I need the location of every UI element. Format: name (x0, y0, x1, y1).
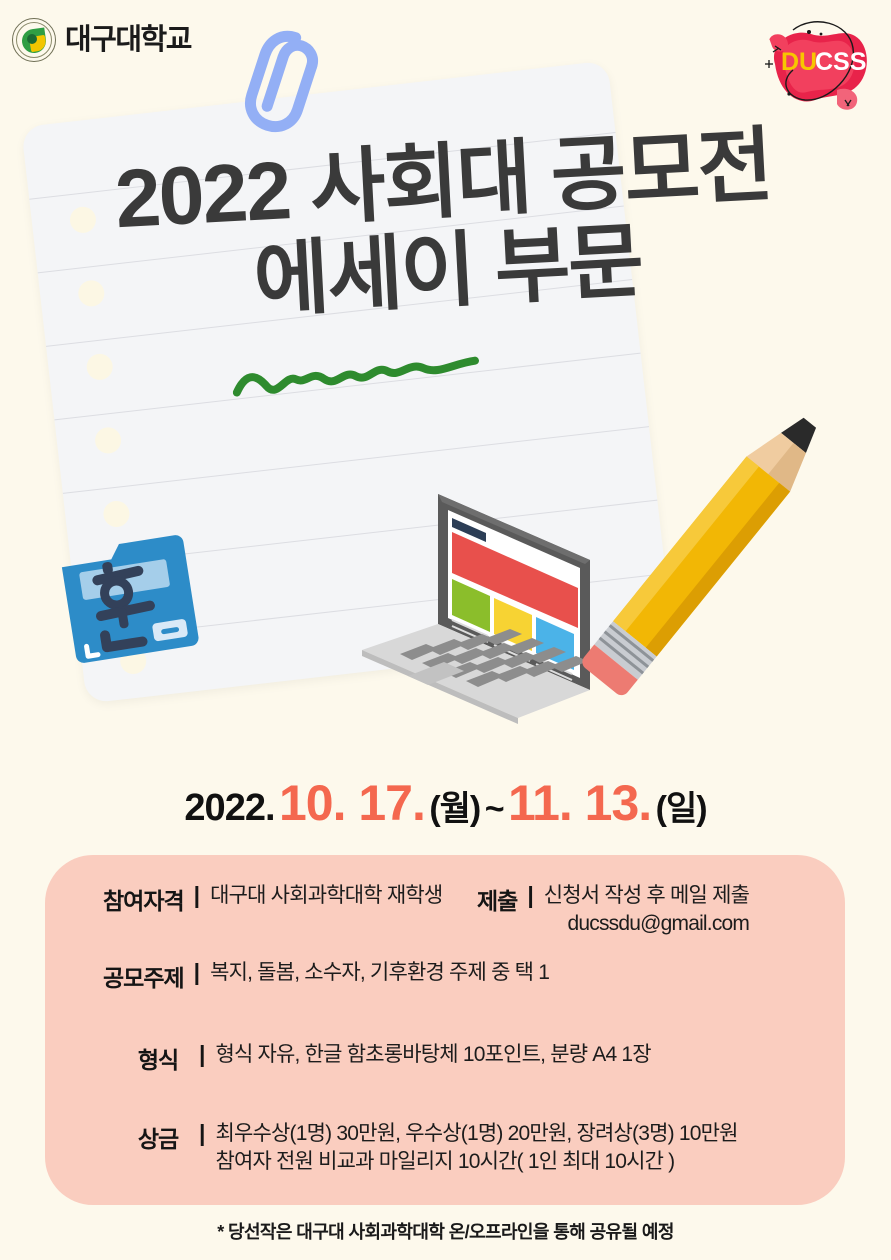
prize-divider: | (199, 1120, 205, 1147)
university-name: 대구대학교 (65, 26, 191, 55)
eligibility-divider: | (194, 882, 200, 909)
ducss-logo-du: DU (781, 48, 817, 76)
date-end-day: (일) (656, 790, 707, 828)
format-divider: | (199, 1041, 205, 1068)
date-separator: ~ (485, 790, 504, 828)
prize-value-line1: 최우수상(1명) 30만원, 우수상(1명) 20만원, 장려상(3명) 10만… (215, 1120, 737, 1148)
topic-value: 복지, 돌봄, 소수자, 기후환경 주제 중 택 1 (210, 959, 549, 987)
eligibility-label: 참여자격 (103, 882, 184, 916)
format-value: 형식 자유, 한글 함초롱바탕체 10포인트, 분량 A4 1장 (215, 1041, 650, 1069)
submission-email: ducssdu@gmail.com (544, 910, 749, 938)
info-row-format: 형식 | 형식 자유, 한글 함초롱바탕체 10포인트, 분량 A4 1장 (127, 1041, 651, 1075)
info-row-eligibility: 참여자격 | 대구대 사회과학대학 재학생 (103, 882, 442, 916)
submission-label: 제출 (477, 882, 517, 916)
format-label: 형식 (127, 1041, 189, 1075)
submission-value-line1: 신청서 작성 후 메일 제출 (544, 882, 749, 910)
eligibility-value: 대구대 사회과학대학 재학생 (210, 882, 442, 910)
prize-value-line2: 참여자 전원 비교과 마일리지 10시간( 1인 최대 10시간 ) (215, 1148, 737, 1176)
topic-divider: | (194, 959, 200, 986)
info-row-submission: 제출 | 신청서 작성 후 메일 제출 ducssdu@gmail.com (477, 882, 749, 937)
info-row-topic: 공모주제 | 복지, 돌봄, 소수자, 기후환경 주제 중 택 1 (103, 959, 549, 993)
poster-canvas: 2022 사회대 공모전 에세이 부문 (0, 0, 891, 1260)
info-panel: 참여자격 | 대구대 사회과학대학 재학생 제출 | 신청서 작성 후 메일 제… (45, 855, 845, 1205)
topic-label: 공모주제 (103, 959, 184, 993)
submission-divider: | (527, 882, 533, 909)
paperclip-icon (236, 22, 356, 147)
date-year: 2022. (184, 787, 274, 829)
ducss-logo-css: CSS (815, 48, 866, 76)
date-start-day: (월) (429, 790, 480, 828)
prize-label: 상금 (127, 1120, 189, 1154)
info-row-prize: 상금 | 최우수상(1명) 30만원, 우수상(1명) 20만원, 장려상(3명… (127, 1120, 738, 1175)
date-start: 10. 17. (279, 775, 425, 831)
date-end: 11. 13. (508, 775, 651, 831)
pencil-icon (548, 378, 864, 724)
memo-card-icon (53, 525, 208, 677)
daegu-university-emblem-icon (12, 18, 56, 62)
brand-header: 대구대학교 (12, 18, 191, 62)
ducss-club-logo: DU CSS (749, 8, 879, 128)
footer-note: * 당선작은 대구대 사회과학대학 온/오프라인을 통해 공유될 예정 (0, 1218, 891, 1244)
event-date: 2022. 10. 17. (월) ~ 11. 13. (일) (0, 778, 891, 828)
